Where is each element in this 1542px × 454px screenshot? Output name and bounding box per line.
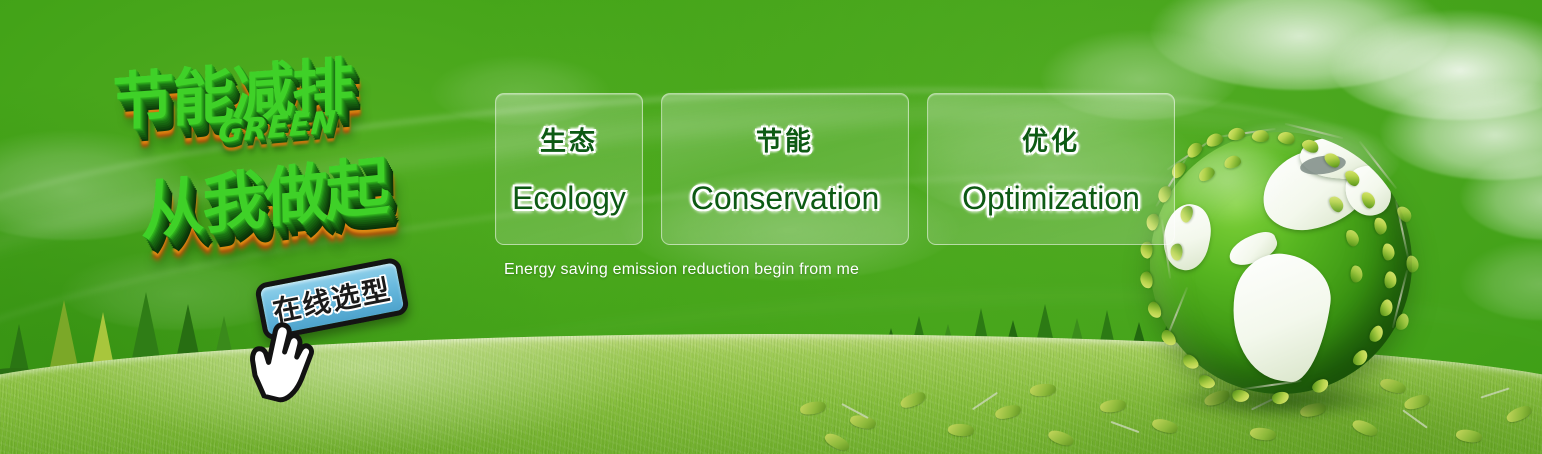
leaf-icon — [799, 400, 826, 416]
leaf-icon — [1455, 428, 1483, 445]
leaf-icon — [1030, 383, 1057, 396]
card-title-cn: 优化 — [1022, 121, 1080, 158]
leaf-icon — [899, 390, 928, 410]
feature-card-conservation[interactable]: 节能 Conservation — [661, 93, 909, 245]
leaf-icon — [1100, 399, 1127, 413]
card-title-en: Conservation — [691, 180, 880, 217]
twig-icon — [1480, 387, 1509, 398]
feature-card-group: 生态 Ecology 节能 Conservation 优化 Optimizati… — [495, 93, 1175, 245]
feature-card-optimization[interactable]: 优化 Optimization — [927, 93, 1175, 245]
green-leafy-globe-icon — [1132, 128, 1432, 428]
card-title-cn: 生态 — [540, 121, 598, 158]
card-title-en: Optimization — [962, 180, 1140, 217]
globe-sphere — [1150, 132, 1412, 394]
leaf-icon — [947, 423, 974, 438]
card-title-cn: 节能 — [756, 121, 814, 158]
eco-hero-banner: 节能减排 GREEN 从我做起 在线选型 生态 Ecology 节能 Conse… — [0, 0, 1542, 454]
leaf-icon — [1047, 428, 1076, 449]
card-title-en: Ecology — [512, 180, 626, 217]
feature-card-ecology[interactable]: 生态 Ecology — [495, 93, 643, 245]
leaf-icon — [1505, 404, 1534, 425]
globe-highlight — [1180, 148, 1300, 228]
leaf-icon — [823, 430, 852, 453]
continent-south-america — [1224, 248, 1337, 386]
leaf-icon — [994, 403, 1022, 420]
banner-tagline: Energy saving emission reduction begin f… — [504, 261, 859, 279]
leaf-icon — [1249, 426, 1277, 442]
twig-icon — [972, 392, 998, 410]
